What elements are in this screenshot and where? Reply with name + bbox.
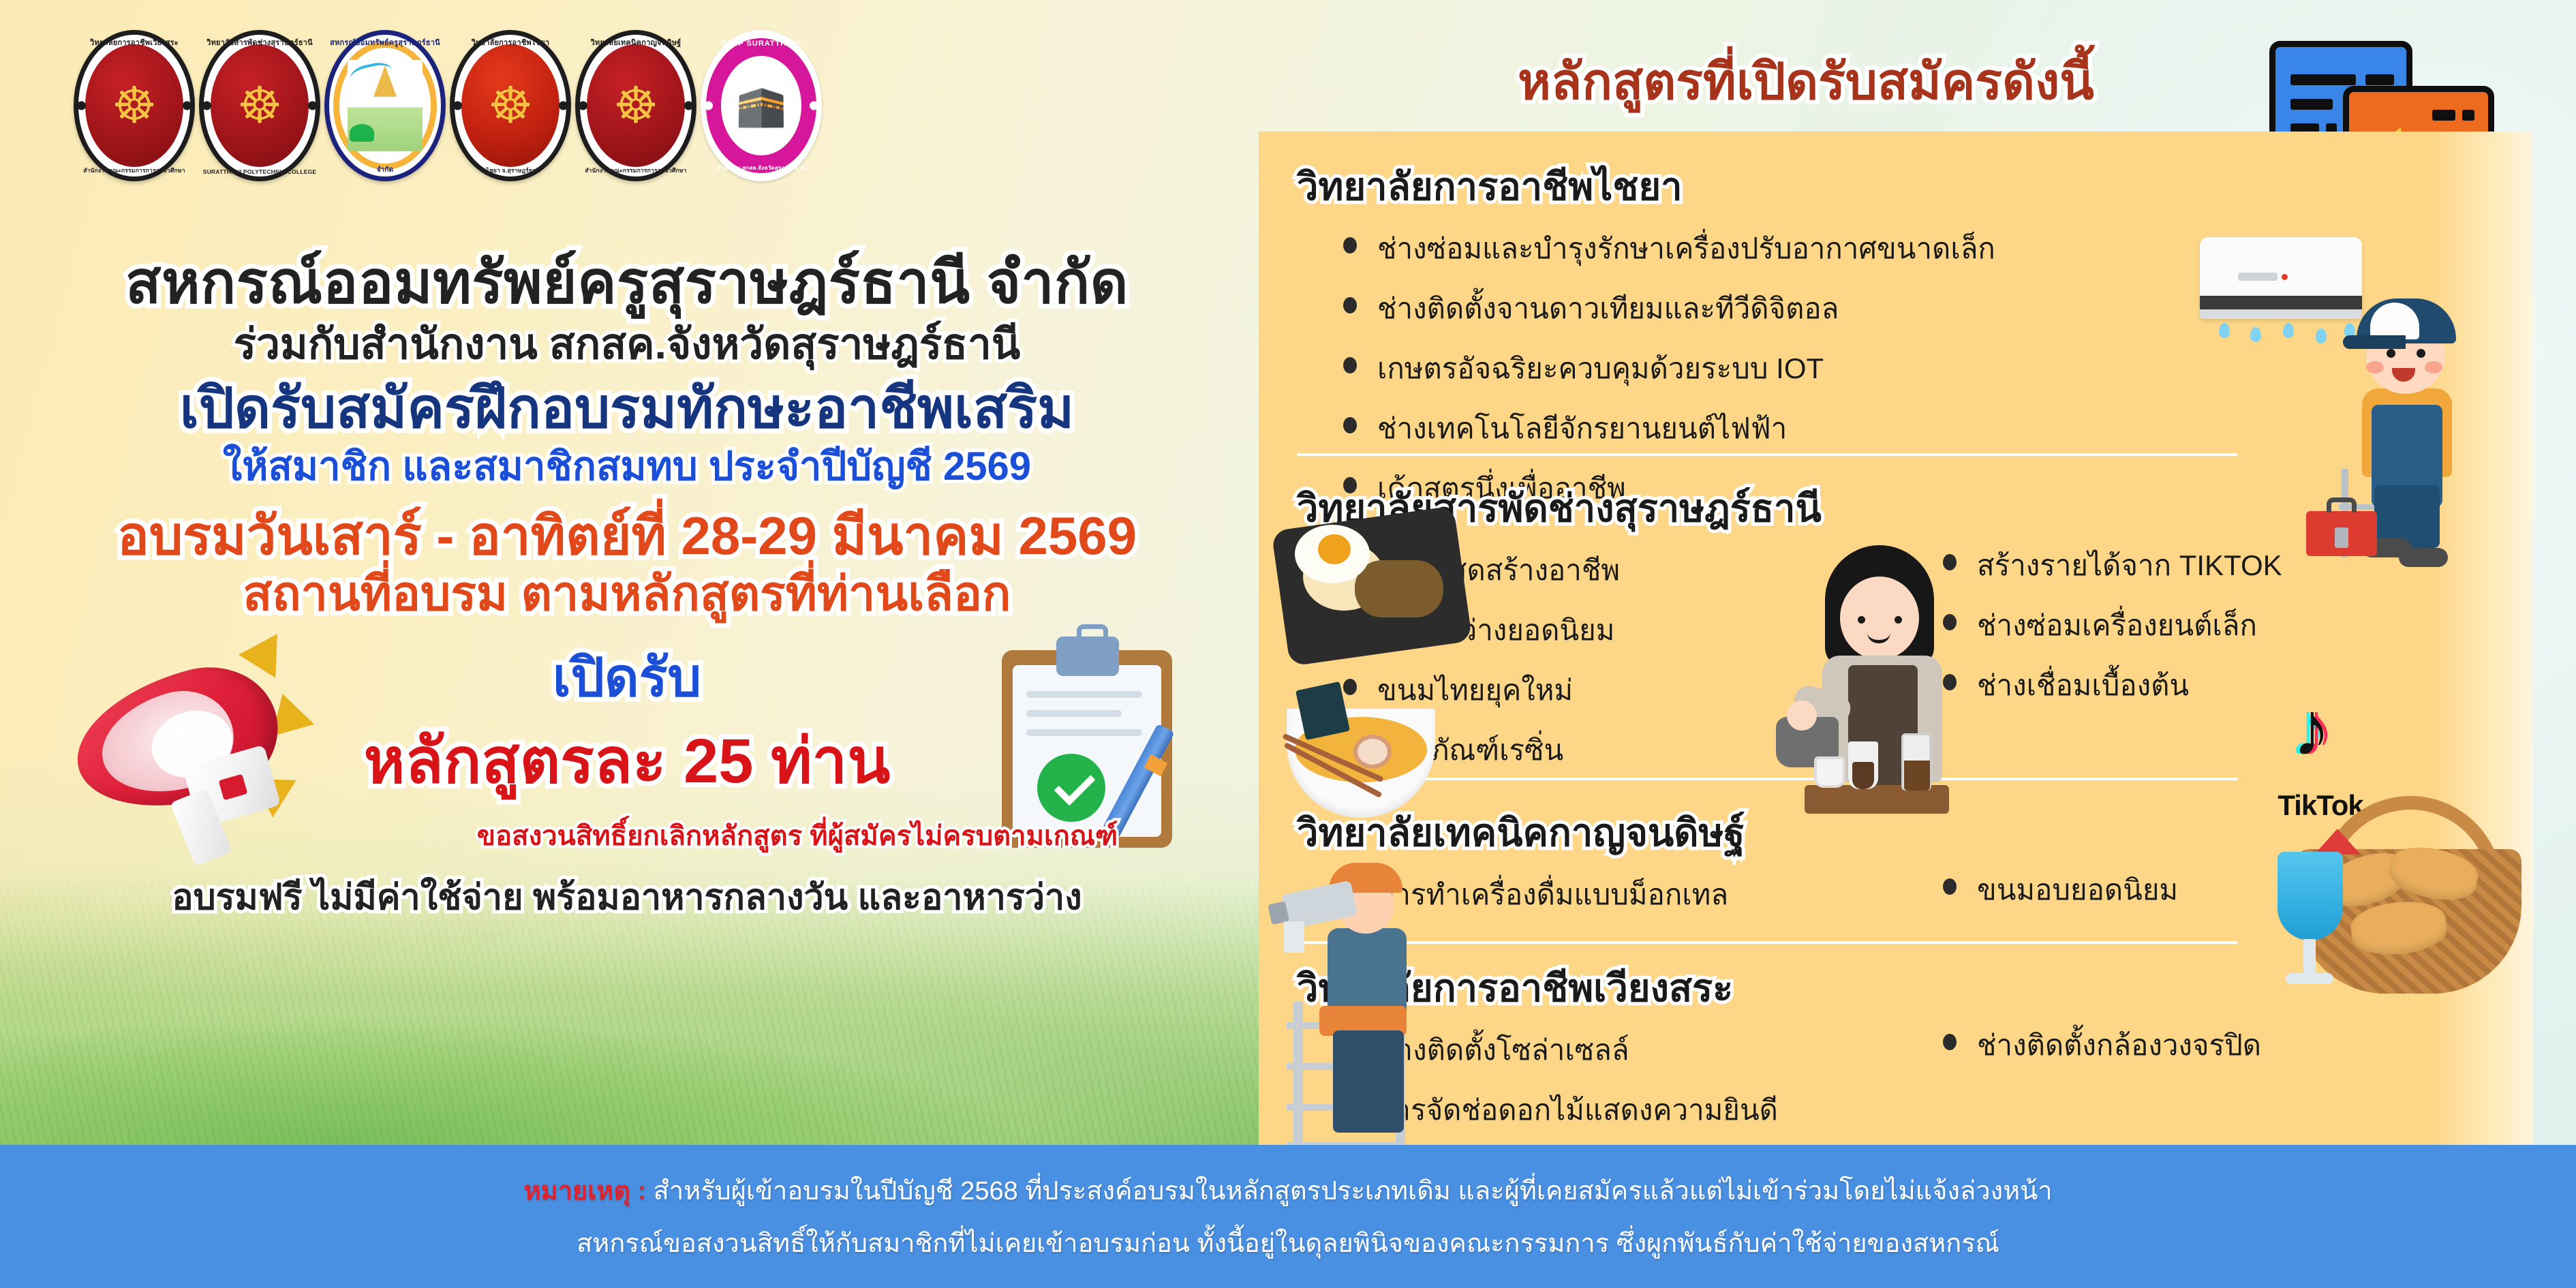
hill-shape	[350, 124, 374, 142]
free-training-note: อบรมฟรี ไม่มีค่าใช้จ่าย พร้อมอาหารกลางวั…	[0, 868, 1254, 925]
course-list-right: ช่างติดตั้งกล้องวงจรปิด	[1940, 1023, 2261, 1083]
installer-legs	[1333, 1030, 1404, 1133]
seal-arc-bottom: สำนักงานคณะกรรมการการอาชีวศึกษา	[575, 166, 696, 175]
seal-arc-top: วิทยาลัยเทคนิคกาญจนดิษฐ์	[575, 36, 696, 48]
cctv-mount	[1284, 921, 1304, 953]
seal-arc-bottom: สำนักงาน สกสค.จังหวัดสุราษฎร์ธานี	[701, 164, 822, 172]
cocktail-base	[2286, 973, 2333, 984]
seal-side-dot-right	[308, 102, 317, 110]
seal-side-dot-right	[183, 102, 191, 110]
toolbox-handle	[2327, 497, 2357, 512]
basil-stirfry	[1355, 560, 1443, 617]
seal-arc-bottom: จำกัด	[324, 165, 446, 175]
barista-eye	[1858, 616, 1865, 624]
thai-basil-dish-icon	[1280, 518, 1464, 654]
seal-side-dot-left	[453, 102, 462, 110]
accepting-label: เปิดรับ	[0, 635, 1254, 720]
quota-text: หลักสูตรละ 25 ท่าน	[0, 710, 1254, 810]
footer-line-1: หมายเหตุ : สำหรับผู้เข้าอบรมในปีบัญชี 25…	[523, 1169, 2052, 1211]
seal-side-dot-right	[559, 102, 568, 110]
logo-seal-cooperative: สหกรณ์ออมทรัพย์ครูสุราษฎร์ธานี จำกัด	[324, 30, 446, 181]
section-divider	[1297, 453, 2237, 456]
bubble-bar	[2432, 110, 2455, 121]
tiktok-note-black: ♪	[2293, 691, 2331, 767]
toolbox-icon	[2306, 511, 2377, 556]
barista-illustration	[1772, 545, 2017, 838]
chashu-slice	[1353, 735, 1392, 769]
technician-cheek	[2425, 361, 2442, 373]
cocktail-glass	[2278, 852, 2343, 940]
technician-eye	[2387, 349, 2395, 358]
bubble-bar	[2290, 74, 2356, 85]
seal-side-dot-right	[684, 102, 693, 110]
coffee-cup-icon	[1814, 756, 1845, 788]
audience-line: ให้สมาชิก และสมาชิกสมทบ ประจำปีบัญชี 256…	[0, 446, 1254, 487]
cctv-installer-illustration	[1280, 845, 1498, 1145]
technician-eye	[2417, 349, 2425, 358]
dharma-wheel-icon: ☸	[613, 80, 658, 131]
technician-cap-brim	[2343, 335, 2406, 349]
partner-office: ร่วมกับสำนักงาน สกสค.จังหวัดสุราษฎร์ธานี	[0, 322, 1254, 367]
quota-row: เปิดรับ หลักสูตรละ 25 ท่าน ขอสงวนสิทธิ์ย…	[0, 628, 1254, 833]
nori-sheet	[1295, 681, 1350, 740]
logo-seal-wiangsa: ☸ วิทยาลัยการอาชีพเวียงสระ สำนักงานคณะกร…	[74, 30, 195, 181]
seal-side-dot-left	[579, 102, 587, 110]
logo-strip: ☸ วิทยาลัยการอาชีพเวียงสระ สำนักงานคณะกร…	[74, 30, 822, 181]
reserve-note: ขอสงวนสิทธิ์ยกเลิกหลักสูตร ที่ผู้สมัครไม…	[368, 814, 1227, 857]
training-venue: สถานที่อบรม ตามหลักสูตรที่ท่านเลือก	[0, 568, 1254, 619]
logo-seal-otep: 🕋 OTEP SURATTHANI สำนักงาน สกสค.จังหวัดส…	[701, 30, 822, 181]
mocktail-glass-icon	[2269, 852, 2351, 995]
water-drop-icon	[2219, 323, 2230, 338]
left-content-column: สหกรณ์ออมทรัพย์ครูสุราษฎร์ธานี จำกัด ร่ว…	[0, 252, 1254, 833]
pagoda-scene-icon	[348, 60, 423, 151]
bread-basket-icon	[2269, 791, 2542, 1015]
water-drop-icon	[2283, 323, 2294, 338]
seal-arc-bottom: อ.ไชยา จ.สุราษฎร์ธานี	[450, 166, 571, 175]
seal-side-dot-left	[77, 102, 86, 110]
seal-arc-bottom: สำนักงานคณะกรรมการการอาชีวศึกษา	[74, 166, 195, 175]
course-list-left: ช่างติดตั้งโซล่าเซลล์ การจัดช่อดอกไม้แสด…	[1340, 1028, 2533, 1133]
ac-technician-illustration	[2303, 273, 2508, 559]
egg-yolk	[1318, 534, 1351, 564]
seal-arc-top: วิทยาลัยสารพัดช่างสุราษฎร์ธานี	[199, 36, 320, 48]
right-panel-heading: หลักสูตรที่เปิดรับสมัครดังนี้	[1295, 41, 2317, 121]
footer-text-1: สำหรับผู้เข้าอบรมในปีบัญชี 2568 ที่ประสง…	[654, 1177, 2053, 1206]
course-item[interactable]: ช่างติดตั้งโซล่าเซลล์	[1340, 1028, 2533, 1073]
seal-side-dot-left	[202, 102, 211, 110]
technician-cheek	[2366, 361, 2384, 373]
logo-seal-polytechnic: ☸ วิทยาลัยสารพัดช่างสุราษฎร์ธานี SURATTH…	[199, 30, 320, 181]
cocktail-stem	[2303, 939, 2316, 975]
seal-arc-top: วิทยาลัยการอาชีพไชยา	[450, 36, 571, 48]
seal-side-dot-right	[810, 102, 818, 110]
seal-arc-top: OTEP SURATTHANI	[701, 40, 822, 48]
dharma-wheel-icon: ☸	[112, 80, 157, 131]
course-item[interactable]: การจัดช่อดอกไม้แสดงความยินดี	[1340, 1088, 2533, 1133]
bubble-bar	[2290, 99, 2333, 110]
technician-shoe	[2399, 548, 2448, 567]
toolbox-latch	[2335, 527, 2348, 548]
course-item[interactable]: ขนมอบยอดนิยม	[1940, 868, 2178, 913]
deity-figure-icon: 🕋	[736, 85, 787, 126]
french-press-fill	[1904, 761, 1930, 791]
barista-eye	[1895, 616, 1902, 624]
course-list-right: ขนมอบยอดนิยม	[1940, 868, 2178, 927]
ramen-bowl-icon	[1280, 681, 1450, 825]
organization-name: สหกรณ์ออมทรัพย์ครูสุราษฎร์ธานี จำกัด	[0, 252, 1254, 314]
pagoda-shape	[373, 65, 397, 97]
barista-hand	[1787, 701, 1817, 731]
bubble-bar	[2462, 110, 2474, 121]
ac-display-strip	[2238, 273, 2278, 281]
seal-arc-top: สหกรณ์ออมทรัพย์ครูสุราษฎร์ธานี	[324, 36, 446, 48]
coffee-dripper-fill	[1852, 762, 1874, 789]
cocktail-umbrella	[2314, 829, 2361, 855]
course-item[interactable]: ช่างติดตั้งกล้องวงจรปิด	[1940, 1023, 2261, 1068]
announcement-headline: เปิดรับสมัครฝึกอบรมทักษะอาชีพเสริม	[0, 380, 1254, 439]
note-label: หมายเหตุ :	[523, 1177, 646, 1206]
seal-arc-top: วิทยาลัยการอาชีพเวียงสระ	[74, 36, 195, 48]
barista-face	[1840, 577, 1919, 660]
poster-root: ☸ วิทยาลัยการอาชีพเวียงสระ สำนักงานคณะกร…	[0, 0, 2576, 1288]
training-date: อบรมวันเสาร์ - อาทิตย์ที่ 28-29 มีนาคม 2…	[0, 508, 1254, 564]
footer-note-bar: หมายเหตุ : สำหรับผู้เข้าอบรมในปีบัญชี 25…	[0, 1145, 2576, 1288]
seal-arc-bottom: SURATTHANI POLYTECHNIC COLLEGE	[199, 168, 320, 175]
seal-side-dot-left	[704, 102, 713, 110]
water-drop-icon	[2250, 327, 2261, 342]
dharma-wheel-icon: ☸	[237, 80, 282, 131]
logo-seal-kanchanadit: ☸ วิทยาลัยเทคนิคกาญจนดิษฐ์ สำนักงานคณะกร…	[575, 30, 696, 181]
dharma-wheel-icon: ☸	[488, 80, 533, 131]
footer-line-2: สหกรณ์ขอสงวนสิทธิ์ให้กับสมาชิกที่ไม่เคยเ…	[577, 1222, 1999, 1263]
tiktok-note-icon: ♪ ♪ ♪	[2283, 688, 2358, 784]
ac-led	[2282, 274, 2288, 280]
logo-seal-chaiya: ☸ วิทยาลัยการอาชีพไชยา อ.ไชยา จ.สุราษฎร์…	[450, 30, 571, 181]
bubble-bar	[2365, 74, 2394, 85]
section-title: วิทยาลัยการอาชีพไชยา	[1297, 156, 2533, 217]
